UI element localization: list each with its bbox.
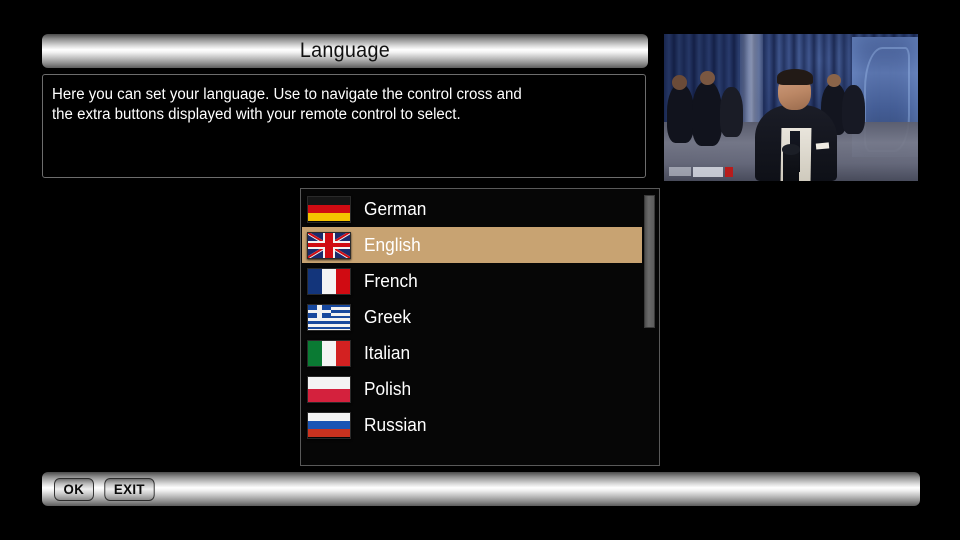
description-line-2: the extra buttons displayed with your re… — [52, 105, 618, 125]
language-list[interactable]: German English French — [300, 188, 660, 466]
preview-pillar — [740, 34, 763, 122]
language-list-rows: German English French — [302, 191, 642, 443]
preview-crowd-figure — [667, 84, 695, 143]
reporter-hair — [777, 69, 813, 85]
list-item-label: French — [364, 271, 418, 292]
list-item-english[interactable]: English — [302, 227, 642, 263]
flag-italy-icon — [307, 340, 351, 367]
list-item-russian[interactable]: Russian — [302, 407, 642, 443]
flag-germany-icon — [307, 196, 351, 223]
preview-crowd-figure — [692, 81, 722, 146]
list-item-label: German — [364, 199, 426, 220]
list-item-label: Russian — [364, 415, 426, 436]
list-scrollbar-track[interactable] — [646, 191, 657, 465]
flag-united-kingdom-icon — [307, 232, 351, 259]
list-item-label: English — [364, 235, 421, 256]
list-item-label: Polish — [364, 379, 411, 400]
flag-greece-icon — [307, 304, 351, 331]
channel-bug — [669, 166, 733, 177]
reporter-pocket-square — [816, 142, 829, 149]
list-item-italian[interactable]: Italian — [302, 335, 642, 371]
description-panel: Here you can set your language. Use to n… — [42, 74, 646, 178]
tv-settings-screen: Language Here you can set your language.… — [0, 0, 960, 540]
action-bar: OK EXIT — [42, 472, 920, 506]
list-item-label: Italian — [364, 343, 410, 364]
list-item-french[interactable]: French — [302, 263, 642, 299]
flag-russia-icon — [307, 412, 351, 439]
exit-button[interactable]: EXIT — [104, 478, 154, 501]
page-title: Language — [300, 39, 390, 63]
channel-bug-mark-3 — [725, 167, 733, 177]
page-title-bar: Language — [42, 34, 648, 68]
ok-button[interactable]: OK — [54, 478, 94, 501]
channel-bug-mark-1 — [669, 167, 691, 176]
list-item-label: Greek — [364, 307, 411, 328]
list-scrollbar-thumb[interactable] — [644, 195, 655, 328]
preview-crowd-head — [700, 71, 715, 86]
preview-crowd-head — [672, 75, 687, 90]
preview-crowd-figure — [842, 85, 865, 134]
list-item-greek[interactable]: Greek — [302, 299, 642, 335]
description-line-1: Here you can set your language. Use to n… — [52, 85, 618, 105]
reporter-microphone — [783, 149, 798, 181]
preview-crowd-figure — [720, 87, 743, 137]
flag-france-icon — [307, 268, 351, 295]
live-tv-preview[interactable] — [663, 33, 919, 182]
list-item-german[interactable]: German — [302, 191, 642, 227]
flag-poland-icon — [307, 376, 351, 403]
channel-bug-mark-2 — [693, 167, 723, 177]
preview-crowd-head — [827, 74, 841, 87]
list-item-polish[interactable]: Polish — [302, 371, 642, 407]
